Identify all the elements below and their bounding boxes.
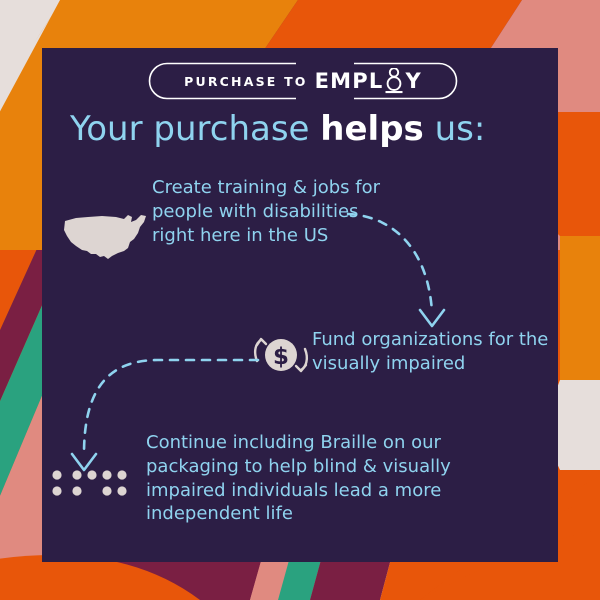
headline-part1: Your purchase xyxy=(70,109,320,149)
us-map-icon xyxy=(58,206,154,264)
braille-dots-icon xyxy=(48,466,132,500)
headline-part2: us: xyxy=(424,109,486,149)
logo-text: PURCHASE TO EMPL Y xyxy=(148,62,458,100)
row-text-braille-packaging: Continue including Braille on our packag… xyxy=(146,431,506,526)
headline-emphasis: helps xyxy=(320,109,424,149)
logo-employ-before: EMPL xyxy=(315,69,384,93)
page-title: Your purchase helps us: xyxy=(70,110,540,149)
person-icon xyxy=(383,71,405,92)
row-text-fund-organizations: Fund organizations for the visually impa… xyxy=(312,328,562,376)
logo-employ-text: EMPL Y xyxy=(315,69,422,93)
dashed-arrow-down-right xyxy=(342,200,472,340)
purchase-to-employ-logo: PURCHASE TO EMPL Y xyxy=(148,62,458,100)
svg-text:$: $ xyxy=(273,344,289,370)
infographic-canvas: PURCHASE TO EMPL Y Your purchase helps u xyxy=(0,0,600,600)
logo-small-text: PURCHASE TO xyxy=(184,74,308,89)
logo-employ-after: Y xyxy=(405,69,421,93)
content-card: PURCHASE TO EMPL Y Your purchase helps u xyxy=(42,48,558,562)
